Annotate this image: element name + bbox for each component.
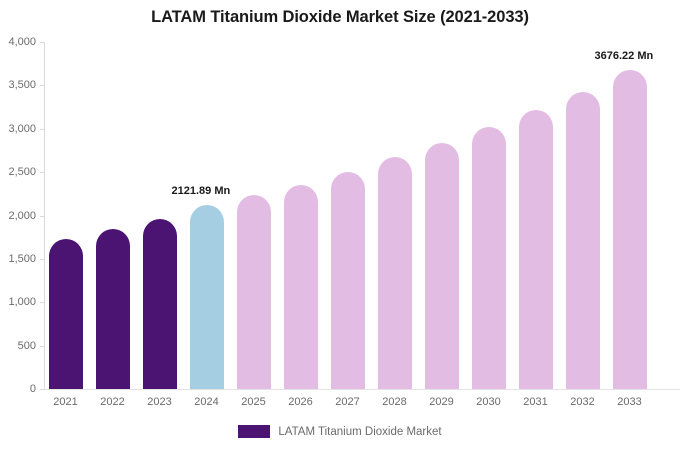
- x-axis-tick-label: 2022: [89, 396, 136, 408]
- x-axis-tick-label: 2025: [230, 396, 277, 408]
- bar-2029[interactable]: [425, 143, 459, 389]
- bar-2025[interactable]: [237, 195, 271, 389]
- data-label-2033: 3676.22 Mn: [595, 50, 654, 62]
- bar-2027[interactable]: [331, 172, 365, 389]
- bar-2026[interactable]: [284, 185, 318, 389]
- bar-2022[interactable]: [96, 229, 130, 389]
- bars-layer: [0, 0, 680, 450]
- bar-2031[interactable]: [519, 110, 553, 389]
- bar-2033[interactable]: [613, 70, 647, 389]
- legend-swatch-icon: [238, 425, 270, 438]
- x-axis-tick-label: 2021: [42, 396, 89, 408]
- x-axis-tick-label: 2024: [183, 396, 230, 408]
- x-axis-tick-label: 2033: [606, 396, 653, 408]
- x-axis-tick-label: 2029: [418, 396, 465, 408]
- legend-label: LATAM Titanium Dioxide Market: [278, 426, 441, 438]
- x-axis-tick-label: 2030: [465, 396, 512, 408]
- data-label-2024: 2121.89 Mn: [172, 185, 231, 197]
- bar-2023[interactable]: [143, 219, 177, 389]
- x-axis-tick-label: 2027: [324, 396, 371, 408]
- bar-2030[interactable]: [472, 127, 506, 389]
- x-axis-tick-label: 2031: [512, 396, 559, 408]
- legend-item[interactable]: LATAM Titanium Dioxide Market: [238, 425, 441, 438]
- x-axis-tick-label: 2032: [559, 396, 606, 408]
- chart-legend: LATAM Titanium Dioxide Market: [0, 425, 680, 438]
- x-axis-tick-label: 2023: [136, 396, 183, 408]
- bar-2032[interactable]: [566, 92, 600, 389]
- chart-container: LATAM Titanium Dioxide Market Size (2021…: [0, 0, 680, 450]
- bar-2024[interactable]: [190, 205, 224, 389]
- bar-2028[interactable]: [378, 157, 412, 389]
- x-axis-tick-label: 2028: [371, 396, 418, 408]
- x-axis-tick-label: 2026: [277, 396, 324, 408]
- bar-2021[interactable]: [49, 239, 83, 389]
